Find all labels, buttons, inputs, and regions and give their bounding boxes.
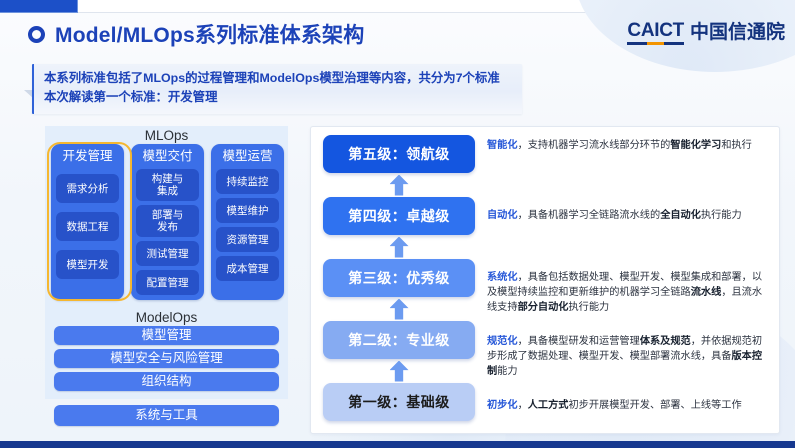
mlops-chip[interactable]: 需求分析 <box>56 174 119 203</box>
desc-after: 执行能力 <box>569 302 610 313</box>
corner-accent-tab <box>0 0 78 13</box>
level-description-5: 智能化，支持机器学习流水线部分环节的智能化学习和执行 <box>487 139 767 154</box>
column-head-label: 模型交付 <box>136 147 199 165</box>
subtitle-line-1: 本系列标准包括了MLOps的过程管理和ModelOps模型治理等内容，共分为7个… <box>44 69 510 88</box>
levels-stack: 第五级：领航级 第四级：卓越级 第三级：优秀级 第二级：专业级 第一级：基础级 <box>323 135 475 421</box>
level-badge-1[interactable]: 第一级：基础级 <box>323 383 475 421</box>
logo-mark-text: CAICT <box>627 20 684 41</box>
desc-keyword: 智能化 <box>487 140 518 151</box>
desc-keyword: 规范化 <box>487 336 518 347</box>
tools-bar[interactable]: 系统与工具 <box>54 405 279 426</box>
level-description-2: 规范化，具备模型研发和运营管理体系及规范，并依据规范初步形成了数据处理、模型开发… <box>487 335 767 379</box>
mlops-chip[interactable]: 测试管理 <box>136 241 199 266</box>
arrow-slot <box>323 235 475 259</box>
mlops-chip[interactable]: 配置管理 <box>136 270 199 295</box>
mlops-column-delivery[interactable]: 模型交付 构建与集成 部署与发布 测试管理 配置管理 <box>131 144 204 300</box>
ring-icon <box>28 26 45 43</box>
mlops-chip[interactable]: 部署与发布 <box>136 205 199 237</box>
bottom-accent-bar <box>0 441 795 448</box>
modelops-band: ModelOps 模型管理 模型安全与风险管理 组织结构 <box>45 308 288 399</box>
desc-strong: 体系及规范 <box>640 336 691 347</box>
desc-before: ，具备机器学习全链路流水线的 <box>518 210 661 221</box>
up-arrow-icon <box>390 237 409 258</box>
desc-before: ，具备模型研发和运营管理 <box>518 336 640 347</box>
modelops-list: 模型管理 模型安全与风险管理 组织结构 <box>45 326 288 391</box>
list-item[interactable]: 模型安全与风险管理 <box>54 349 279 368</box>
desc-before: ，支持机器学习流水线部分环节的 <box>518 140 671 151</box>
mlops-band-title: MLOps <box>45 126 288 144</box>
arrow-slot <box>323 359 475 383</box>
up-arrow-icon <box>390 299 409 320</box>
desc-after: 执行能力 <box>701 210 742 221</box>
level-description-4: 自动化，具备机器学习全链路流水线的全自动化执行能力 <box>487 209 767 224</box>
subtitle-line-2: 本次解读第一个标准：开发管理 <box>44 88 510 107</box>
mlops-chip[interactable]: 持续监控 <box>216 169 279 194</box>
mlops-architecture-panel: MLOps 开发管理 需求分析 数据工程 模型开发 模型交付 构建与集成 部署与… <box>45 126 288 438</box>
desc-after: 初步开展模型开发、部署、上线等工作 <box>569 400 742 411</box>
logo-underline <box>627 42 684 45</box>
up-arrow-icon <box>390 175 409 196</box>
logo-name-cn: 中国信通院 <box>690 23 785 45</box>
desc-after: 能力 <box>497 366 517 377</box>
slide-header: Model/MLOps系列标准体系架构 CAICT 中国信通院 <box>0 13 795 55</box>
modelops-band-title: ModelOps <box>45 308 288 326</box>
tools-layer: 系统与工具 <box>45 405 288 426</box>
desc-strong: 流水线 <box>691 287 722 298</box>
level-badge-5[interactable]: 第五级：领航级 <box>323 135 475 173</box>
title-row: Model/MLOps系列标准体系架构 <box>28 19 364 49</box>
desc-strong: 人工方式 <box>528 400 569 411</box>
subtitle-banner: 本系列标准包括了MLOps的过程管理和ModelOps模型治理等内容，共分为7个… <box>32 64 522 114</box>
mlops-chip[interactable]: 数据工程 <box>56 212 119 241</box>
level-badge-4[interactable]: 第四级：卓越级 <box>323 197 475 235</box>
level-badge-3[interactable]: 第三级：优秀级 <box>323 259 475 297</box>
desc-before: ， <box>518 400 528 411</box>
column-head-label: 模型运营 <box>216 147 279 165</box>
level-badge-2[interactable]: 第二级：专业级 <box>323 321 475 359</box>
mlops-chip[interactable]: 模型维护 <box>216 198 279 223</box>
subtitle-box: 本系列标准包括了MLOps的过程管理和ModelOps模型治理等内容，共分为7个… <box>32 64 522 114</box>
mlops-columns: 开发管理 需求分析 数据工程 模型开发 模型交付 构建与集成 部署与发布 测试管… <box>51 144 284 300</box>
desc-strong: 全自动化 <box>660 210 701 221</box>
level-description-1: 初步化，人工方式初步开展模型开发、部署、上线等工作 <box>487 399 767 414</box>
desc-keyword: 初步化 <box>487 400 518 411</box>
mlops-chip[interactable]: 成本管理 <box>216 256 279 281</box>
mlops-column-development[interactable]: 开发管理 需求分析 数据工程 模型开发 <box>51 144 124 300</box>
arrow-slot <box>323 297 475 321</box>
desc-strong-2: 部分自动化 <box>518 302 569 313</box>
logo-mark: CAICT <box>627 21 684 45</box>
mlops-chip[interactable]: 构建与集成 <box>136 169 199 201</box>
desc-keyword: 系统化 <box>487 272 518 283</box>
level-description-3: 系统化，具备包括数据处理、模型开发、模型集成和部署，以及模型持续监控和更新维护的… <box>487 271 767 315</box>
desc-after: 和执行 <box>721 140 752 151</box>
desc-strong: 智能化学习 <box>670 140 721 151</box>
slide-canvas: Model/MLOps系列标准体系架构 CAICT 中国信通院 本系列标准包括了… <box>0 0 795 448</box>
column-head-label: 开发管理 <box>56 147 119 165</box>
caict-logo: CAICT 中国信通院 <box>627 21 785 45</box>
list-item[interactable]: 模型管理 <box>54 326 279 345</box>
maturity-levels-panel: 第五级：领航级 第四级：卓越级 第三级：优秀级 第二级：专业级 第一级：基础级 … <box>310 126 780 434</box>
up-arrow-icon <box>390 361 409 382</box>
mlops-band: MLOps 开发管理 需求分析 数据工程 模型开发 模型交付 构建与集成 部署与… <box>45 126 288 308</box>
arrow-slot <box>323 173 475 197</box>
page-title: Model/MLOps系列标准体系架构 <box>55 19 364 49</box>
list-item[interactable]: 组织结构 <box>54 372 279 391</box>
mlops-column-operations[interactable]: 模型运营 持续监控 模型维护 资源管理 成本管理 <box>211 144 284 300</box>
mlops-chip[interactable]: 资源管理 <box>216 227 279 252</box>
mlops-chip[interactable]: 模型开发 <box>56 250 119 279</box>
desc-keyword: 自动化 <box>487 210 518 221</box>
